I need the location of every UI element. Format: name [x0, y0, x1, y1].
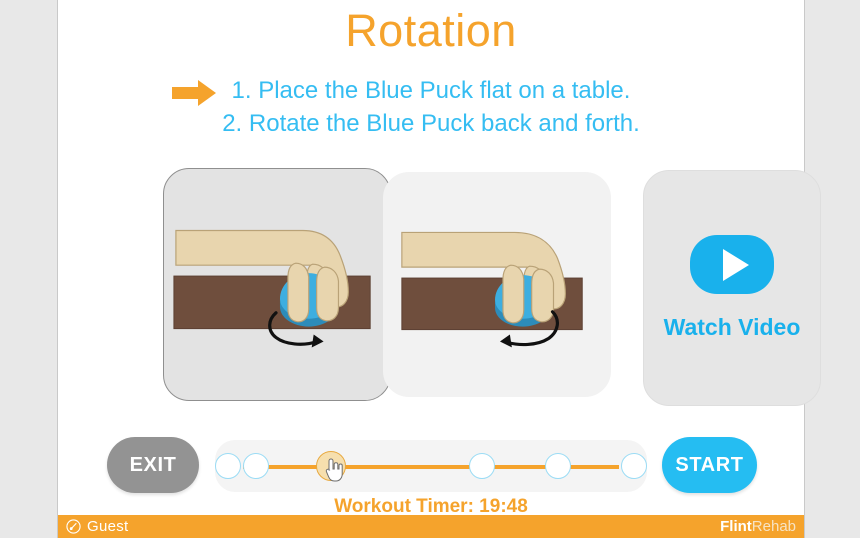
- exercise-page: Rotation 1. Place the Blue Puck flat on …: [57, 0, 805, 538]
- user-label: Guest: [87, 518, 129, 535]
- hand-rotating-puck-counterclockwise-illustration: [384, 173, 610, 396]
- step-dot-6[interactable]: [621, 453, 647, 479]
- step-dot-4[interactable]: [469, 453, 495, 479]
- start-button[interactable]: START: [662, 437, 757, 493]
- watch-video-label: Watch Video: [644, 314, 820, 341]
- instruction-image-2[interactable]: [383, 172, 611, 397]
- instruction-image-1[interactable]: [163, 168, 391, 401]
- guest-user-icon: [66, 519, 81, 534]
- hand-rotating-puck-clockwise-illustration: [164, 169, 390, 400]
- app-window: Rotation 1. Place the Blue Puck flat on …: [0, 0, 860, 538]
- play-icon[interactable]: [690, 235, 774, 294]
- instruction-list: 1. Place the Blue Puck flat on a table. …: [58, 74, 804, 140]
- step-dot-5[interactable]: [545, 453, 571, 479]
- instruction-line-2: 2. Rotate the Blue Puck back and forth.: [58, 107, 804, 140]
- step-dot-2[interactable]: [316, 451, 346, 481]
- step-dot-1[interactable]: [243, 453, 269, 479]
- user-block[interactable]: Guest: [66, 518, 129, 535]
- illustration-panels: Watch Video: [105, 168, 821, 408]
- step-dot-3[interactable]: [215, 453, 241, 479]
- play-triangle-shape: [723, 249, 749, 281]
- page-title: Rotation: [58, 8, 804, 53]
- brand-logo: FlintRehab: [720, 518, 796, 535]
- exercise-progress-stepper[interactable]: [215, 440, 647, 492]
- brand-secondary: Rehab: [752, 518, 796, 535]
- control-bar: EXIT START: [58, 437, 804, 493]
- instruction-line-1: 1. Place the Blue Puck flat on a table.: [58, 74, 804, 107]
- exit-button[interactable]: EXIT: [107, 437, 199, 493]
- status-bar: Guest FlintRehab: [58, 515, 804, 538]
- brand-primary: Flint: [720, 518, 752, 535]
- watch-video-panel[interactable]: Watch Video: [643, 170, 821, 406]
